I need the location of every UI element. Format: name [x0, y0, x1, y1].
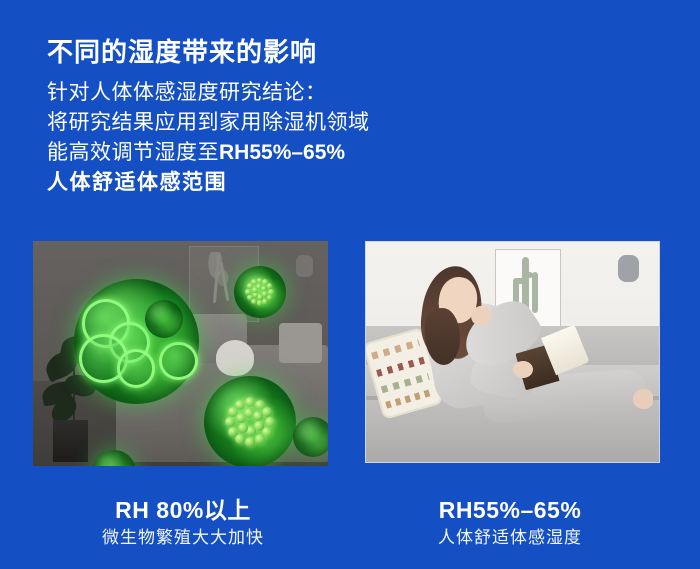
microbe-dot: [255, 434, 265, 444]
microbe-dot: [235, 434, 245, 444]
intro-paragraph: 针对人体体感湿度研究结论： 将研究结果应用到家用除湿机领域 能高效调节湿度至RH…: [47, 78, 370, 198]
panel-captions: RH 80%以上 微生物繁殖大大加快 RH55%–65% 人体舒适体感湿度: [0, 495, 700, 569]
microbe-dot: [225, 417, 235, 427]
bright-living-room-scene: [366, 242, 659, 462]
caption-subtitle: 人体舒适体感湿度: [360, 525, 660, 551]
microbe-dot: [257, 294, 263, 300]
microbe-dot: [268, 289, 274, 295]
microbe-dot: [245, 437, 255, 447]
caption-subtitle: 微生物繁殖大大加快: [33, 525, 333, 551]
microbe-dot-ring: [243, 275, 276, 308]
intro-line-3: 能高效调节湿度至RH55%–65%: [47, 138, 370, 168]
microbe-dot: [262, 299, 268, 305]
microbe-dot: [238, 423, 248, 433]
microbe-dot: [253, 292, 259, 298]
microbe-dot: [262, 407, 272, 417]
microbe-dot: [235, 400, 245, 410]
panel-comfort-humidity-image: [365, 241, 660, 463]
microbe-cluster-large: [74, 279, 199, 404]
microbe-dot: [228, 427, 238, 437]
microbe-dot: [261, 286, 267, 292]
intro-line-1: 针对人体体感湿度研究结论：: [47, 78, 370, 108]
comparison-panels: [0, 241, 700, 467]
woman-foot: [633, 389, 654, 409]
cactus-artwork-icon: [201, 252, 236, 308]
woman-reading-illustration: [366, 242, 659, 462]
caption-title: RH 80%以上: [33, 495, 333, 525]
microbe-dot: [257, 300, 263, 306]
microbe-cell: [159, 342, 198, 381]
caption-high-humidity: RH 80%以上 微生物繁殖大大加快: [33, 495, 333, 551]
microbe-dot: [253, 411, 263, 421]
microbe-cluster-tiny-a: [145, 300, 183, 338]
microbe-dot: [265, 417, 275, 427]
microbe-dot-ring: [221, 393, 280, 452]
panel-high-humidity-image: [33, 241, 328, 466]
microbe-dot: [245, 289, 251, 295]
microbe-dot: [251, 299, 257, 305]
intro-line-3-prefix: 能高效调节湿度至: [47, 141, 219, 164]
wall-speaker-icon: [296, 255, 313, 277]
plant-pot: [53, 420, 88, 462]
microbe-dot: [267, 283, 273, 289]
microbe-cluster-small-top: [234, 266, 286, 318]
caption-comfort-humidity: RH55%–65% 人体舒适体感湿度: [360, 495, 660, 551]
microbe-cluster-tiny-c: [293, 417, 328, 457]
humidity-range-value: RH55%–65%: [219, 141, 345, 164]
page-title: 不同的湿度带来的影响: [47, 35, 317, 69]
humidity-infographic-poster: 不同的湿度带来的影响 针对人体体感湿度研究结论： 将研究结果应用到家用除湿机领域…: [0, 0, 700, 569]
dark-living-room-scene: [33, 241, 328, 466]
caption-title: RH55%–65%: [360, 495, 660, 525]
microbe-cell: [117, 349, 156, 388]
sofa-cushion: [216, 340, 254, 376]
microbe-dot: [247, 295, 253, 301]
intro-line-4: 人体舒适体感范围: [47, 168, 370, 198]
microbe-dot: [245, 397, 255, 407]
intro-line-2: 将研究结果应用到家用除湿机领域: [47, 108, 370, 138]
microbe-cluster-bottom: [204, 376, 296, 466]
microbe-dot: [246, 426, 256, 436]
